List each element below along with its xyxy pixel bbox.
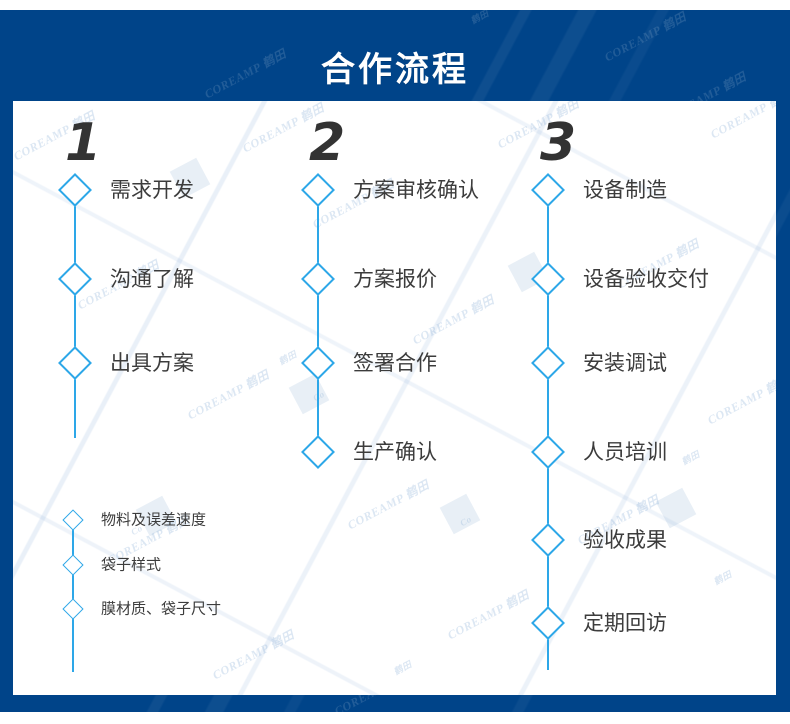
diamond-icon: [531, 173, 565, 207]
step-label: 设备制造: [583, 177, 667, 203]
diamond-icon: [58, 346, 92, 380]
diamond-icon: [531, 346, 565, 380]
column-subrail: [72, 520, 74, 672]
step-node[interactable]: [306, 440, 330, 464]
process-column-2: 2 方案审核确认 方案报价 签署合作 生产确认: [256, 101, 496, 695]
step-label: 人员培训: [583, 439, 667, 465]
diamond-icon: [301, 435, 335, 469]
diamond-icon: [58, 262, 92, 296]
step-label: 定期回访: [583, 610, 667, 636]
step-node[interactable]: [306, 178, 330, 202]
subitem-label: 膜材质、袋子尺寸: [101, 600, 221, 619]
process-card: COREAMP 鹤田 COREAMP 鹤田 COREAMP 鹤田 COREAMP…: [13, 101, 776, 695]
cooperation-process-poster: COREAMP 鹤田 COREAMP 鹤田 COREAMP 鹤田 鹤田 鹤田 鹤…: [0, 0, 790, 724]
diamond-icon: [531, 606, 565, 640]
step-label: 验收成果: [583, 527, 667, 553]
diamond-icon: [62, 598, 83, 619]
step-node[interactable]: [536, 528, 560, 552]
step-node[interactable]: [63, 178, 87, 202]
process-column-3: 3 设备制造 设备验收交付 安装调试 人员培训 验收成果: [486, 101, 776, 695]
step-node[interactable]: [536, 611, 560, 635]
step-label: 安装调试: [583, 350, 667, 376]
step-node[interactable]: [536, 351, 560, 375]
diamond-icon: [301, 262, 335, 296]
subitem-label: 物料及误差速度: [101, 511, 206, 530]
process-column-1: 1 需求开发 沟通了解 出具方案 物料及误差速度: [13, 101, 283, 695]
diamond-icon: [62, 509, 83, 530]
column-number: 2: [309, 117, 345, 169]
diamond-icon: [62, 554, 83, 575]
subitem-node[interactable]: [66, 558, 81, 573]
diamond-icon: [531, 435, 565, 469]
step-node[interactable]: [306, 267, 330, 291]
page-title: 合作流程: [0, 48, 790, 92]
step-node[interactable]: [306, 351, 330, 375]
step-label: 沟通了解: [110, 266, 194, 292]
step-label: 需求开发: [110, 177, 194, 203]
subitem-node[interactable]: [66, 513, 81, 528]
diamond-icon: [58, 173, 92, 207]
diamond-icon: [531, 523, 565, 557]
subitem-label: 袋子样式: [101, 556, 161, 575]
step-label: 设备验收交付: [583, 266, 709, 292]
step-label: 方案报价: [353, 266, 437, 292]
column-rail: [74, 190, 76, 438]
diamond-icon: [301, 346, 335, 380]
column-number: 1: [65, 117, 101, 169]
step-node[interactable]: [63, 351, 87, 375]
step-node[interactable]: [536, 178, 560, 202]
diamond-icon: [531, 262, 565, 296]
step-node[interactable]: [536, 267, 560, 291]
step-label: 生产确认: [353, 439, 437, 465]
step-label: 签署合作: [353, 350, 437, 376]
subitem-node[interactable]: [66, 602, 81, 617]
watermark-text: 鹤田: [468, 10, 491, 27]
column-number: 3: [540, 117, 576, 169]
step-label: 出具方案: [110, 350, 194, 376]
step-label: 方案审核确认: [353, 177, 479, 203]
diamond-icon: [301, 173, 335, 207]
step-node[interactable]: [536, 440, 560, 464]
step-node[interactable]: [63, 267, 87, 291]
column-rail: [317, 190, 319, 452]
